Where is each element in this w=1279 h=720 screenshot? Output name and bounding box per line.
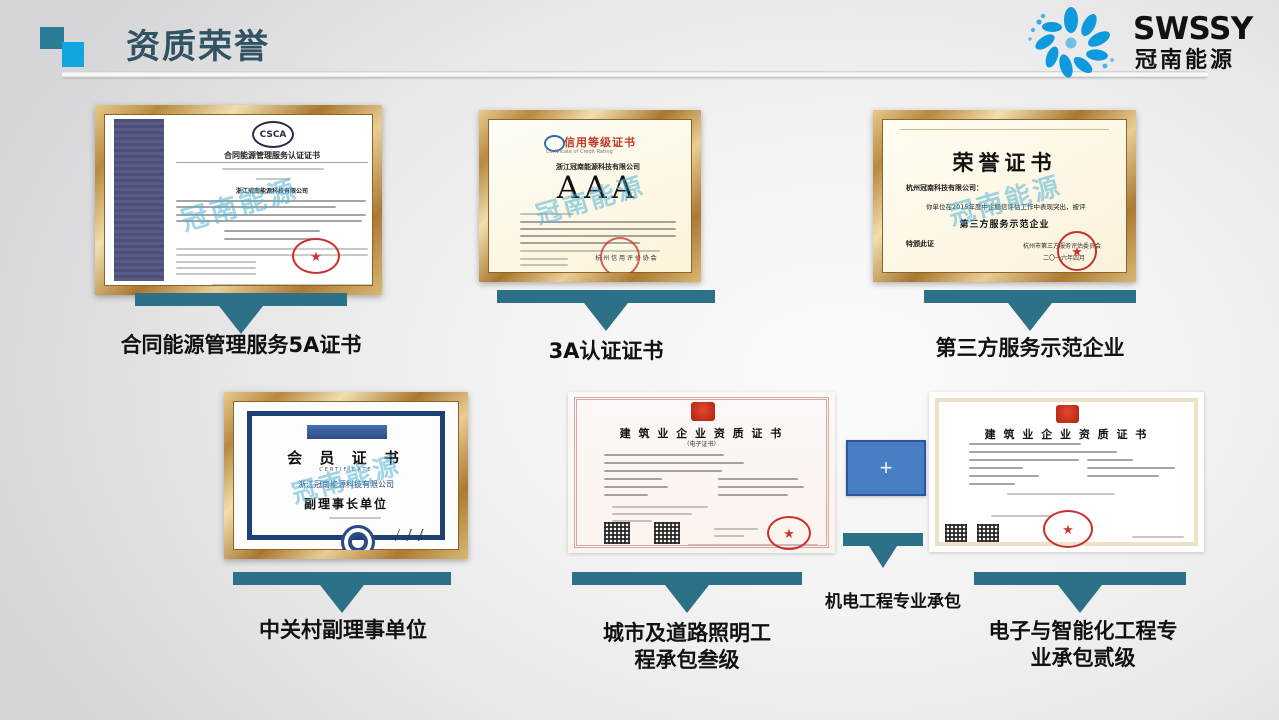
add-certificate-button[interactable]: +: [846, 440, 926, 496]
callout-arrow-cert-aaa: [497, 290, 715, 331]
cert-heading: 建 筑 业 企 业 资 质 证 书: [929, 426, 1204, 442]
cert-grade: AAA: [518, 173, 678, 204]
cert-subheading: Certificate of Credit Rating: [546, 149, 666, 155]
certificate-card-cert-member[interactable]: 会 员 证 书 CERTIFICATE 浙江冠南能源科技有限公司 副理事长单位 …: [224, 392, 468, 559]
callout-arrow-cert-construction-3: [572, 572, 802, 613]
callout-arrow-cert-5a: [135, 293, 347, 334]
cert-ribbon: [307, 425, 387, 439]
callout-arrow-cert-honor: [924, 290, 1136, 331]
cert-note: 特颁此证: [906, 239, 934, 249]
qr-code-left: [604, 522, 630, 544]
callout-arrow-extra-label: [843, 533, 923, 568]
cert-company: 浙江冠南能源科技有限公司: [233, 479, 459, 490]
certificate-caption-cert-construction-2: 电子与智能化工程专 业承包贰级: [952, 618, 1214, 672]
header-square-light: [62, 42, 84, 67]
certificate-caption-cert-honor: 第三方服务示范企业: [885, 335, 1175, 362]
slide-canvas: 资质荣誉 SWSSY 冠南能源: [0, 0, 1279, 720]
national-emblem-icon: [1056, 405, 1079, 423]
cert-red-seal: ★: [292, 238, 340, 274]
cert-heading: 合同能源管理服务认证证书: [172, 150, 372, 161]
page-title: 资质荣誉: [126, 19, 270, 68]
certificate-caption-cert-aaa: 3A认证证书: [486, 338, 726, 365]
certificate-caption-cert-construction-3: 城市及道路照明工 程承包叁级: [558, 620, 816, 674]
cert-subheading: （电子证书）: [568, 439, 835, 448]
cert-heading: 信用等级证书: [564, 134, 636, 150]
company-logo: SWSSY 冠南能源: [1009, 4, 1271, 78]
certificate-card-cert-construction-2[interactable]: 建 筑 业 企 业 资 质 证 书 ★: [929, 392, 1204, 552]
cert-subheading: CERTIFICATE: [233, 467, 459, 473]
certificate-card-cert-honor[interactable]: 荣誉证书 杭州冠南科技有限公司： 你单位在2015年度中企稳信评估工作中表现突出…: [873, 110, 1136, 282]
cert-side-panel: [114, 119, 164, 281]
droplet-burst-icon: [1028, 7, 1114, 78]
header-square-dark: [40, 27, 64, 49]
certificate-card-cert-aaa[interactable]: 信用等级证书 Certificate of Credit Rating 浙江冠南…: [479, 110, 701, 282]
extra-label: 机电工程专业承包: [805, 592, 981, 614]
cert-signature: [395, 529, 429, 541]
cert-body: 你单位在2015年度中企稳信评估工作中表现突出，被评: [926, 201, 1111, 211]
cert-heading: 荣誉证书: [882, 147, 1127, 177]
cert-ornament: [900, 129, 1109, 146]
callout-arrow-cert-construction-2: [974, 572, 1186, 613]
csca-emblem-icon: CSCA: [252, 121, 294, 148]
certificate-card-cert-5a[interactable]: CSCA 合同能源管理服务认证证书 浙江冠南能源科技有限公司 ★ 冠南能源: [95, 105, 382, 295]
cert-company: 浙江冠南能源科技有限公司: [172, 186, 372, 195]
certificate-card-cert-construction-3[interactable]: 建 筑 业 企 业 资 质 证 书 （电子证书） ★: [568, 392, 835, 553]
logo-chinese-text: 冠南能源: [1135, 47, 1235, 73]
cert-red-seal: ★: [1057, 231, 1097, 271]
cert-red-seal: [600, 237, 640, 273]
cert-company: 杭州冠南科技有限公司：: [906, 183, 983, 193]
certificate-caption-cert-member: 中关村副理事单位: [212, 617, 474, 644]
qr-code-right: [977, 524, 999, 542]
qr-code-left: [945, 524, 967, 542]
plus-icon: +: [880, 457, 893, 479]
certificate-caption-cert-5a: 合同能源管理服务5A证书: [86, 332, 396, 359]
cert-red-seal: ★: [1043, 510, 1093, 548]
logo-latin-text: SWSSY: [1133, 11, 1254, 47]
qr-code-right: [654, 522, 680, 544]
cert-award: 第三方服务示范企业: [882, 217, 1127, 230]
cert-heading: 会 员 证 书: [233, 447, 459, 468]
cert-role: 副理事长单位: [233, 495, 459, 512]
callout-arrow-cert-member: [233, 572, 451, 613]
national-emblem-icon: [691, 402, 715, 421]
